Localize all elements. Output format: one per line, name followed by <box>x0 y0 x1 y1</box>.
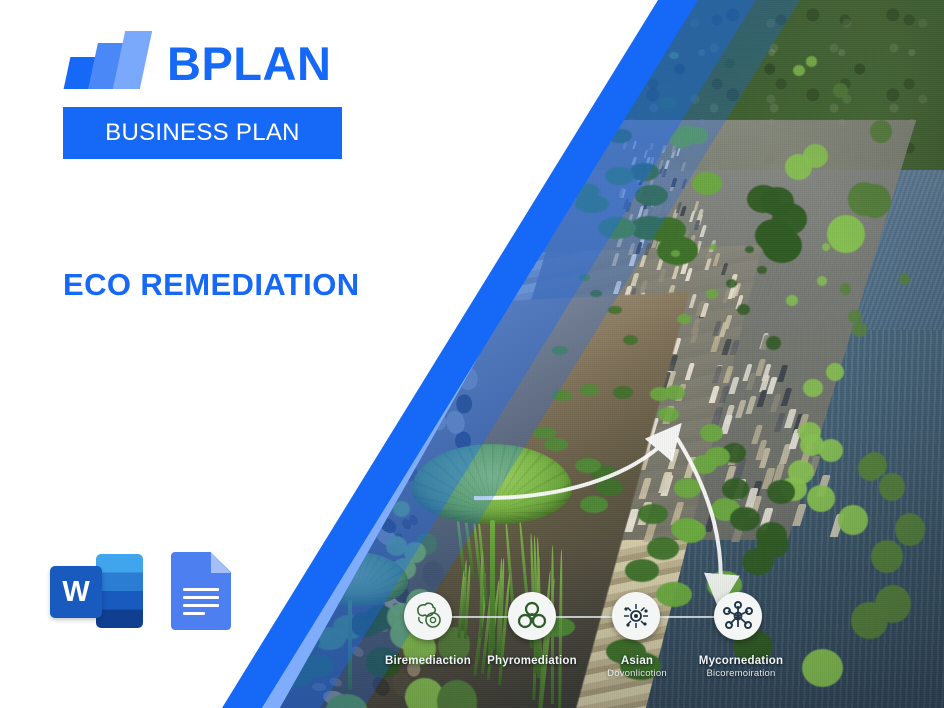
debris-piece <box>353 461 378 476</box>
debris-piece <box>251 648 260 660</box>
debris-piece <box>419 315 451 346</box>
shrub <box>273 545 296 558</box>
dam-railing <box>426 40 609 80</box>
shrub <box>302 568 327 585</box>
logo-bar-3 <box>113 31 152 89</box>
file-format-icons: W <box>50 552 231 630</box>
google-docs-icon[interactable] <box>171 552 231 630</box>
debris-piece <box>406 415 415 423</box>
shrub <box>263 564 288 578</box>
debris-piece <box>362 497 392 520</box>
debris-piece <box>289 414 304 434</box>
debris-piece <box>371 454 385 465</box>
debris-piece <box>282 468 290 479</box>
cover-page: Biremediaction Phyromediation Asian Dovo… <box>0 0 944 708</box>
shrub <box>600 69 613 77</box>
shrub <box>402 437 411 446</box>
shrub <box>277 509 295 520</box>
debris-piece <box>352 489 368 499</box>
debris-piece <box>298 318 314 345</box>
debris-piece <box>369 309 381 317</box>
shrub <box>322 574 348 593</box>
debris-piece <box>463 313 490 344</box>
debris-piece <box>348 476 358 482</box>
debris-piece <box>284 472 302 494</box>
debris-piece <box>308 305 320 322</box>
debris-piece <box>314 500 339 520</box>
shrub <box>245 457 256 463</box>
shrub <box>577 87 593 96</box>
shrub <box>331 528 351 544</box>
brand-name: BPLAN <box>167 42 331 89</box>
debris-piece <box>322 468 339 481</box>
debris-piece <box>356 469 378 484</box>
microsoft-word-icon[interactable]: W <box>50 552 143 630</box>
debris-piece <box>234 686 248 708</box>
gdoc-line <box>183 612 205 615</box>
debris-piece <box>263 608 271 617</box>
tagline-badge: BUSINESS PLAN <box>63 107 342 159</box>
debris-piece <box>336 490 365 509</box>
debris-piece <box>289 545 295 550</box>
debris-piece <box>319 391 329 400</box>
shrub <box>386 456 397 466</box>
debris-piece <box>303 568 324 585</box>
shrub <box>271 509 289 520</box>
debris-piece <box>312 332 318 339</box>
debris-piece <box>319 313 336 333</box>
debris-piece <box>240 615 246 625</box>
shrub <box>392 432 400 440</box>
debris-piece <box>426 334 458 367</box>
debris-piece <box>326 373 335 381</box>
debris-piece <box>226 684 230 692</box>
shrub <box>263 623 295 641</box>
debris-piece <box>390 440 413 461</box>
debris-piece <box>237 681 245 692</box>
debris-piece <box>275 690 284 698</box>
debris-piece <box>378 381 394 393</box>
debris-piece <box>291 547 304 560</box>
debris-piece <box>258 492 263 502</box>
shrub <box>244 554 268 566</box>
debris-piece <box>222 689 230 708</box>
shrub <box>366 498 383 512</box>
debris-piece <box>267 561 273 569</box>
debris-piece <box>264 535 282 562</box>
debris-piece <box>328 573 350 587</box>
debris-piece <box>247 646 251 652</box>
debris-piece <box>477 318 486 328</box>
shrub <box>261 444 271 449</box>
waterfall <box>445 95 546 245</box>
debris-piece <box>297 359 307 373</box>
shrub <box>296 547 319 562</box>
debris-piece <box>337 508 352 517</box>
debris-piece <box>385 358 415 381</box>
debris-piece <box>268 494 285 521</box>
page-title: ECO REMEDIATION <box>63 267 360 303</box>
debris-piece <box>292 350 305 373</box>
debris-piece <box>300 573 306 578</box>
debris-piece <box>301 571 311 579</box>
word-document-shape <box>96 554 143 628</box>
gdoc-line <box>183 604 219 607</box>
debris-piece <box>277 556 296 577</box>
shrub <box>260 650 296 670</box>
debris-piece <box>307 353 314 361</box>
debris-piece <box>257 491 261 501</box>
debris-piece <box>318 342 327 352</box>
debris-piece <box>338 437 363 455</box>
debris-piece <box>410 421 431 442</box>
gdoc-text-lines <box>183 588 219 620</box>
word-letter: W <box>62 578 89 607</box>
debris-piece <box>278 648 291 660</box>
debris-piece <box>333 487 342 494</box>
debris-piece <box>333 583 340 587</box>
debris-piece <box>417 382 427 392</box>
debris-piece <box>279 682 288 690</box>
shrub <box>632 51 642 57</box>
debris-piece <box>253 547 266 571</box>
debris-piece <box>351 468 377 484</box>
brand-logo[interactable]: BPLAN <box>63 31 331 89</box>
shrub <box>308 545 330 561</box>
shrub <box>565 66 577 73</box>
debris-piece <box>366 334 374 340</box>
gdoc-line <box>183 596 219 599</box>
debris-piece <box>451 306 469 326</box>
debris-piece <box>342 331 361 347</box>
shrub <box>271 648 306 669</box>
debris-piece <box>307 394 328 416</box>
debris-piece <box>386 389 403 403</box>
gdoc-line <box>183 588 219 591</box>
debris-piece <box>293 430 309 450</box>
debris-piece <box>281 484 286 490</box>
debris-piece <box>411 358 434 380</box>
shrub <box>304 596 333 616</box>
debris-piece <box>291 535 308 551</box>
debris-piece <box>268 427 277 447</box>
shrub <box>315 567 340 585</box>
shrub <box>327 446 337 454</box>
shrub <box>383 436 392 444</box>
shrub <box>327 469 340 479</box>
debris-piece <box>407 374 436 402</box>
debris-piece <box>387 394 395 401</box>
shrub <box>280 441 289 447</box>
debris-piece <box>395 338 404 345</box>
shrub <box>558 137 582 150</box>
debris-piece <box>287 567 295 574</box>
debris-piece <box>337 411 356 426</box>
tagline-text: BUSINESS PLAN <box>105 119 300 147</box>
debris-piece <box>315 436 322 442</box>
debris-piece <box>292 514 306 528</box>
debris-piece <box>356 325 364 331</box>
shrub <box>605 54 615 60</box>
debris-piece <box>399 304 428 327</box>
debris-piece <box>336 328 343 334</box>
debris-piece <box>233 672 243 688</box>
debris-piece <box>325 348 335 357</box>
shrub <box>261 583 288 598</box>
debris-piece <box>236 581 239 588</box>
debris-piece <box>358 517 378 532</box>
debris-piece <box>367 303 377 310</box>
debris-piece <box>305 473 327 494</box>
debris-piece <box>421 328 434 341</box>
debris-piece <box>341 385 370 407</box>
debris-piece <box>435 379 447 392</box>
debris-piece <box>326 358 352 382</box>
debris-piece <box>368 304 390 319</box>
debris-piece <box>424 406 436 418</box>
debris-piece <box>372 352 389 362</box>
debris-piece <box>289 591 312 611</box>
debris-piece <box>265 585 275 597</box>
shrub <box>394 459 406 470</box>
shrub <box>292 540 314 554</box>
debris-piece <box>392 418 400 425</box>
word-letter-badge: W <box>50 566 102 618</box>
debris-piece <box>361 485 368 490</box>
debris-piece <box>336 351 345 358</box>
bar-chart-logo-icon <box>63 31 151 89</box>
shrub <box>246 581 273 595</box>
debris-piece <box>270 641 292 663</box>
